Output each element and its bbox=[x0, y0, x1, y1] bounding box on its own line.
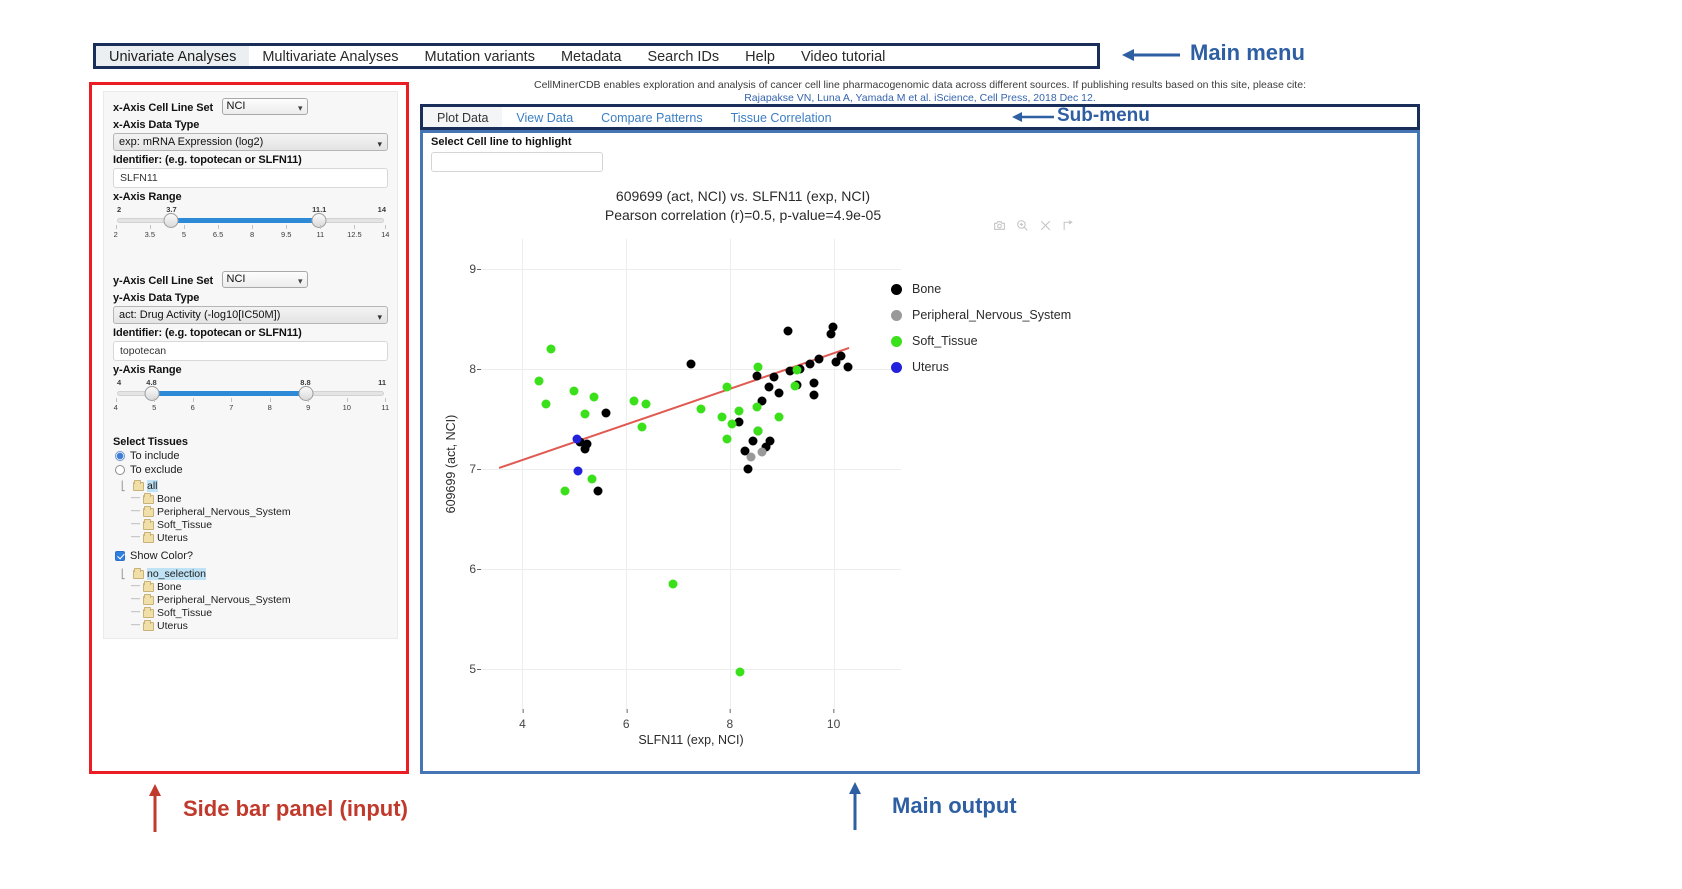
highlight-cell-line-label: Select Cell line to highlight bbox=[431, 136, 572, 148]
legend-item-bone[interactable]: Bone bbox=[891, 282, 1071, 296]
scatter-point[interactable] bbox=[580, 410, 589, 419]
grid-line bbox=[626, 239, 627, 709]
y-tick: 8 bbox=[469, 362, 476, 376]
scatter-point[interactable] bbox=[572, 435, 581, 444]
scatter-point[interactable] bbox=[809, 379, 818, 388]
x-axis-cell-line-set-label: x-Axis Cell Line Set bbox=[113, 102, 213, 114]
x-axis-range-label: x-Axis Range bbox=[113, 191, 388, 203]
annotation-sidebar: Side bar panel (input) bbox=[183, 796, 408, 822]
checkbox-checked-icon bbox=[115, 551, 125, 561]
x-tick: 10 bbox=[827, 717, 840, 731]
folder-icon bbox=[143, 609, 154, 618]
y-tick-label: 7 bbox=[229, 403, 233, 412]
tab-compare-patterns[interactable]: Compare Patterns bbox=[587, 107, 716, 127]
legend-item-soft-tissue[interactable]: Soft_Tissue bbox=[891, 334, 1071, 348]
scatter-point[interactable] bbox=[629, 397, 638, 406]
scatter-point[interactable] bbox=[809, 391, 818, 400]
sidebar-panel: x-Axis Cell Line Set NCI▾ x-Axis Data Ty… bbox=[89, 82, 409, 774]
x-axis-identifier-label: Identifier: (e.g. topotecan or SLFN11) bbox=[113, 154, 388, 166]
scatter-point[interactable] bbox=[641, 400, 650, 409]
scatter-point[interactable] bbox=[775, 413, 784, 422]
close-icon[interactable] bbox=[1039, 219, 1052, 232]
x-axis-title: SLFN11 (exp, NCI) bbox=[481, 733, 901, 747]
scatter-point[interactable] bbox=[736, 668, 745, 677]
y-axis-data-type-select[interactable]: act: Drug Activity (-log10[IC50M])▾ bbox=[113, 306, 388, 324]
scatter-point[interactable] bbox=[744, 465, 753, 474]
tree-label-soft-tissue: Soft_Tissue bbox=[157, 519, 212, 531]
x-tick: 8 bbox=[727, 717, 734, 731]
scatter-point[interactable] bbox=[754, 427, 763, 436]
tree-node-color-soft-tissue[interactable]: Soft_Tissue bbox=[143, 607, 388, 619]
sidebar-arrow-icon bbox=[146, 782, 164, 834]
tree-expander-icon[interactable]: ⎣ bbox=[121, 569, 130, 580]
tree-node-color-bone[interactable]: Bone bbox=[143, 581, 388, 593]
tree-node-color-uterus[interactable]: Uterus bbox=[143, 620, 388, 632]
tissue-color-tree[interactable]: ⎣ no_selection Bone Peripheral_Nervous_S… bbox=[121, 568, 388, 632]
annotation-main-menu: Main menu bbox=[1190, 40, 1305, 66]
plot-subtitle: Pearson correlation (r)=0.5, p-value=4.9… bbox=[523, 206, 963, 225]
plot-title: 609699 (act, NCI) vs. SLFN11 (exp, NCI) bbox=[523, 187, 963, 206]
annotation-sub-menu: Sub-menu bbox=[1057, 105, 1150, 127]
tree-node-no-selection[interactable]: ⎣ no_selection bbox=[121, 568, 388, 580]
y-axis-data-type-label: y-Axis Data Type bbox=[113, 292, 388, 304]
y-axis-cell-line-set-label: y-Axis Cell Line Set bbox=[113, 275, 213, 287]
tree-label-color-peripheral-nervous-system: Peripheral_Nervous_System bbox=[157, 594, 291, 606]
plot-modebar[interactable] bbox=[993, 219, 1075, 232]
scatter-point[interactable] bbox=[735, 407, 744, 416]
x-axis-identifier-value: SLFN11 bbox=[120, 172, 158, 184]
chevron-down-icon: ▾ bbox=[377, 136, 382, 152]
x-tick-label: 12.5 bbox=[347, 230, 362, 239]
camera-icon[interactable] bbox=[993, 219, 1006, 232]
y-tick-label: 9 bbox=[306, 403, 310, 412]
x-axis-identifier-input[interactable]: SLFN11 bbox=[113, 168, 388, 188]
x-axis-data-type-value: exp: mRNA Expression (log2) bbox=[119, 136, 263, 148]
legend-label-peripheral-nervous-system: Peripheral_Nervous_System bbox=[912, 308, 1071, 322]
zoom-in-icon[interactable] bbox=[1016, 219, 1029, 232]
scatter-point[interactable] bbox=[637, 423, 646, 432]
scatter-point[interactable] bbox=[746, 453, 755, 462]
select-tissues-section: Select Tissues To include To exclude ⎣ a… bbox=[113, 436, 388, 632]
x-range-fill bbox=[171, 218, 319, 223]
scatter-point[interactable] bbox=[793, 366, 802, 375]
scatter-point[interactable] bbox=[758, 448, 767, 457]
tree-node-all[interactable]: ⎣ all bbox=[121, 480, 388, 492]
grid-line bbox=[481, 269, 901, 270]
scatter-point[interactable] bbox=[764, 383, 773, 392]
y-tick-label: 4 bbox=[114, 403, 118, 412]
menu-item-mutation-variants[interactable]: Mutation variants bbox=[412, 46, 548, 66]
x-tick-label: 9.5 bbox=[281, 230, 291, 239]
sidebar-inner-panel: x-Axis Cell Line Set NCI▾ x-Axis Data Ty… bbox=[103, 91, 398, 639]
tree-node-peripheral-nervous-system[interactable]: Peripheral_Nervous_System bbox=[143, 506, 388, 518]
plot-axes: 4681056789 bbox=[481, 239, 901, 709]
chevron-down-icon: ▾ bbox=[298, 274, 303, 289]
tab-view-data[interactable]: View Data bbox=[502, 107, 587, 127]
citation-description: CellMinerCDB enables exploration and ana… bbox=[420, 78, 1420, 92]
folder-icon bbox=[143, 508, 154, 517]
grid-line bbox=[481, 469, 901, 470]
y-axis-cell-line-set-value: NCI bbox=[227, 273, 246, 285]
show-color-label: Show Color? bbox=[130, 550, 193, 562]
folder-icon bbox=[143, 622, 154, 631]
radio-off-icon bbox=[115, 465, 125, 475]
tab-plot-data[interactable]: Plot Data bbox=[423, 107, 502, 127]
tissue-include-tree[interactable]: ⎣ all Bone Peripheral_Nervous_System Sof… bbox=[121, 480, 388, 544]
scatter-point[interactable] bbox=[754, 363, 763, 372]
legend-marker-peripheral-nervous-system bbox=[891, 310, 902, 321]
tree-label-bone: Bone bbox=[157, 493, 182, 505]
folder-icon bbox=[143, 583, 154, 592]
show-color-checkbox[interactable]: Show Color? bbox=[115, 550, 388, 562]
y-axis-identifier-input[interactable]: topotecan bbox=[113, 341, 388, 361]
x-tick-label: 11 bbox=[316, 230, 324, 239]
radio-to-exclude[interactable]: To exclude bbox=[115, 464, 388, 476]
scatter-point[interactable] bbox=[561, 487, 570, 496]
chevron-down-icon: ▾ bbox=[377, 309, 382, 325]
tree-label-all: all bbox=[147, 480, 158, 492]
scatter-plot: 609699 (act, NCI) vs. SLFN11 (exp, NCI) … bbox=[423, 177, 1417, 773]
autoscale-icon[interactable] bbox=[1062, 219, 1075, 232]
x-axis-data-type-label: x-Axis Data Type bbox=[113, 119, 388, 131]
scatter-point[interactable] bbox=[602, 409, 611, 418]
select-tissues-heading: Select Tissues bbox=[113, 436, 388, 448]
legend-marker-soft-tissue bbox=[891, 336, 902, 347]
legend-label-bone: Bone bbox=[912, 282, 941, 296]
scatter-point[interactable] bbox=[541, 400, 550, 409]
radio-on-icon bbox=[115, 451, 125, 461]
x-tick-label: 6.5 bbox=[213, 230, 223, 239]
folder-icon bbox=[143, 534, 154, 543]
main-menu-arrow-icon bbox=[1120, 44, 1182, 66]
y-tick: 6 bbox=[469, 562, 476, 576]
grid-line bbox=[481, 669, 901, 670]
menu-item-metadata[interactable]: Metadata bbox=[548, 46, 634, 66]
x-tick-label: 3.5 bbox=[145, 230, 155, 239]
scatter-point[interactable] bbox=[723, 383, 732, 392]
scatter-point[interactable] bbox=[668, 580, 677, 589]
y-axis-range-label: y-Axis Range bbox=[113, 364, 388, 376]
x-tick-label: 14 bbox=[381, 230, 389, 239]
sub-menu-arrow-icon bbox=[1010, 108, 1056, 126]
scatter-point[interactable] bbox=[769, 373, 778, 382]
legend-marker-uterus bbox=[891, 362, 902, 373]
folder-icon bbox=[133, 482, 144, 491]
y-tick-label: 11 bbox=[381, 403, 389, 412]
scatter-point[interactable] bbox=[815, 355, 824, 364]
grid-line bbox=[522, 239, 523, 709]
folder-icon bbox=[143, 495, 154, 504]
scatter-point[interactable] bbox=[752, 372, 761, 381]
main-menu-bar[interactable]: Univariate Analyses Multivariate Analyse… bbox=[93, 43, 1100, 69]
legend-item-uterus[interactable]: Uterus bbox=[891, 360, 1071, 374]
tree-node-bone[interactable]: Bone bbox=[143, 493, 388, 505]
grid-line bbox=[834, 239, 835, 709]
tree-node-soft-tissue[interactable]: Soft_Tissue bbox=[143, 519, 388, 531]
scatter-point[interactable] bbox=[547, 345, 556, 354]
chevron-down-icon: ▾ bbox=[298, 101, 303, 116]
menu-item-video-tutorial[interactable]: Video tutorial bbox=[788, 46, 898, 66]
legend-item-peripheral-nervous-system[interactable]: Peripheral_Nervous_System bbox=[891, 308, 1071, 322]
y-tick-label: 6 bbox=[191, 403, 195, 412]
y-axis-cell-line-set-select[interactable]: NCI▾ bbox=[222, 271, 308, 288]
scatter-point[interactable] bbox=[718, 413, 727, 422]
x-axis-cell-line-set-row: x-Axis Cell Line Set NCI▾ bbox=[113, 98, 388, 116]
y-axis-identifier-label: Identifier: (e.g. topotecan or SLFN11) bbox=[113, 327, 388, 339]
scatter-point[interactable] bbox=[806, 360, 815, 369]
tree-label-color-soft-tissue: Soft_Tissue bbox=[157, 607, 212, 619]
scatter-point[interactable] bbox=[697, 405, 706, 414]
citation-block: CellMinerCDB enables exploration and ana… bbox=[420, 78, 1420, 105]
radio-to-include-label: To include bbox=[130, 450, 180, 462]
legend-marker-bone bbox=[891, 284, 902, 295]
radio-to-include[interactable]: To include bbox=[115, 450, 388, 462]
tree-label-color-bone: Bone bbox=[157, 581, 182, 593]
legend-label-uterus: Uterus bbox=[912, 360, 949, 374]
scatter-point[interactable] bbox=[574, 467, 583, 476]
y-axis-data-type-value: act: Drug Activity (-log10[IC50M]) bbox=[119, 309, 280, 321]
y-axis-title: 609699 (act, NCI) bbox=[444, 264, 458, 664]
folder-icon bbox=[133, 570, 144, 579]
x-tick-label: 2 bbox=[114, 230, 118, 239]
scatter-point[interactable] bbox=[790, 382, 799, 391]
y-axis-cell-line-set-row: y-Axis Cell Line Set NCI▾ bbox=[113, 271, 388, 289]
x-tick: 4 bbox=[519, 717, 526, 731]
x-tick-label: 8 bbox=[250, 230, 254, 239]
annotation-main-output: Main output bbox=[892, 793, 1017, 819]
y-axis-range-slider[interactable]: 4 4.8 8.8 11 4 5 6 7 8 9 10 11 bbox=[113, 378, 388, 418]
scatter-point[interactable] bbox=[593, 487, 602, 496]
scatter-point[interactable] bbox=[766, 437, 775, 446]
x-tick: 6 bbox=[623, 717, 630, 731]
tree-node-color-peripheral-nervous-system[interactable]: Peripheral_Nervous_System bbox=[143, 594, 388, 606]
folder-icon bbox=[143, 596, 154, 605]
scatter-point[interactable] bbox=[749, 437, 758, 446]
scatter-point[interactable] bbox=[723, 435, 732, 444]
main-output-arrow-icon bbox=[846, 780, 864, 832]
y-tick: 7 bbox=[469, 462, 476, 476]
y-range-fill bbox=[152, 391, 306, 396]
x-axis-range-slider[interactable]: 2 3.7 11.1 14 2 3.5 5 6.5 8 9.5 11 12.5 … bbox=[113, 205, 388, 245]
y-tick-label: 8 bbox=[268, 403, 272, 412]
legend-label-soft-tissue: Soft_Tissue bbox=[912, 334, 978, 348]
menu-item-help[interactable]: Help bbox=[732, 46, 788, 66]
scatter-point[interactable] bbox=[783, 327, 792, 336]
scatter-point[interactable] bbox=[775, 389, 784, 398]
x-range-ticks: 2 3.5 5 6.5 8 9.5 11 12.5 14 bbox=[113, 225, 388, 241]
tree-node-uterus[interactable]: Uterus bbox=[143, 532, 388, 544]
grid-line bbox=[730, 239, 731, 709]
grid-line bbox=[481, 569, 901, 570]
scatter-point[interactable] bbox=[590, 393, 599, 402]
tab-tissue-correlation[interactable]: Tissue Correlation bbox=[717, 107, 846, 127]
menu-item-multivariate-analyses[interactable]: Multivariate Analyses bbox=[249, 46, 411, 66]
tree-expander-icon[interactable]: ⎣ bbox=[121, 481, 130, 492]
x-range-max-cap: 14 bbox=[378, 205, 386, 214]
y-tick-label: 5 bbox=[152, 403, 156, 412]
highlight-cell-line-input[interactable] bbox=[431, 152, 603, 172]
menu-item-univariate-analyses[interactable]: Univariate Analyses bbox=[96, 46, 249, 66]
y-tick: 9 bbox=[469, 262, 476, 276]
main-output-panel: Select Cell line to highlight 609699 (ac… bbox=[420, 130, 1420, 774]
scatter-point[interactable] bbox=[535, 377, 544, 386]
plot-legend[interactable]: Bone Peripheral_Nervous_System Soft_Tiss… bbox=[891, 282, 1071, 386]
scatter-point[interactable] bbox=[828, 323, 837, 332]
scatter-point[interactable] bbox=[687, 360, 696, 369]
folder-icon bbox=[143, 521, 154, 530]
tree-label-no-selection: no_selection bbox=[147, 568, 206, 580]
scatter-point[interactable] bbox=[728, 420, 737, 429]
sub-menu-tabs[interactable]: Plot Data View Data Compare Patterns Tis… bbox=[420, 104, 1420, 130]
scatter-point[interactable] bbox=[844, 363, 853, 372]
x-axis-data-type-select[interactable]: exp: mRNA Expression (log2)▾ bbox=[113, 133, 388, 151]
x-axis-cell-line-set-select[interactable]: NCI▾ bbox=[222, 98, 308, 115]
y-range-min-cap: 4 bbox=[117, 378, 121, 387]
grid-line bbox=[481, 369, 901, 370]
menu-item-search-ids[interactable]: Search IDs bbox=[634, 46, 732, 66]
x-tick-label: 5 bbox=[182, 230, 186, 239]
scatter-point[interactable] bbox=[837, 352, 846, 361]
y-tick-label: 10 bbox=[343, 403, 351, 412]
scatter-point[interactable] bbox=[752, 403, 761, 412]
x-axis-cell-line-set-value: NCI bbox=[227, 100, 246, 112]
scatter-point[interactable] bbox=[570, 387, 579, 396]
y-range-ticks: 4 5 6 7 8 9 10 11 bbox=[113, 398, 388, 414]
tree-label-color-uterus: Uterus bbox=[157, 620, 188, 632]
y-range-max-cap: 11 bbox=[378, 378, 386, 387]
radio-to-exclude-label: To exclude bbox=[130, 464, 183, 476]
y-axis-identifier-value: topotecan bbox=[120, 345, 166, 357]
tree-label-peripheral-nervous-system: Peripheral_Nervous_System bbox=[157, 506, 291, 518]
plot-title-block: 609699 (act, NCI) vs. SLFN11 (exp, NCI) … bbox=[523, 187, 963, 225]
x-range-min-cap: 2 bbox=[117, 205, 121, 214]
scatter-point[interactable] bbox=[588, 475, 597, 484]
tree-label-uterus: Uterus bbox=[157, 532, 188, 544]
y-tick: 5 bbox=[469, 662, 476, 676]
